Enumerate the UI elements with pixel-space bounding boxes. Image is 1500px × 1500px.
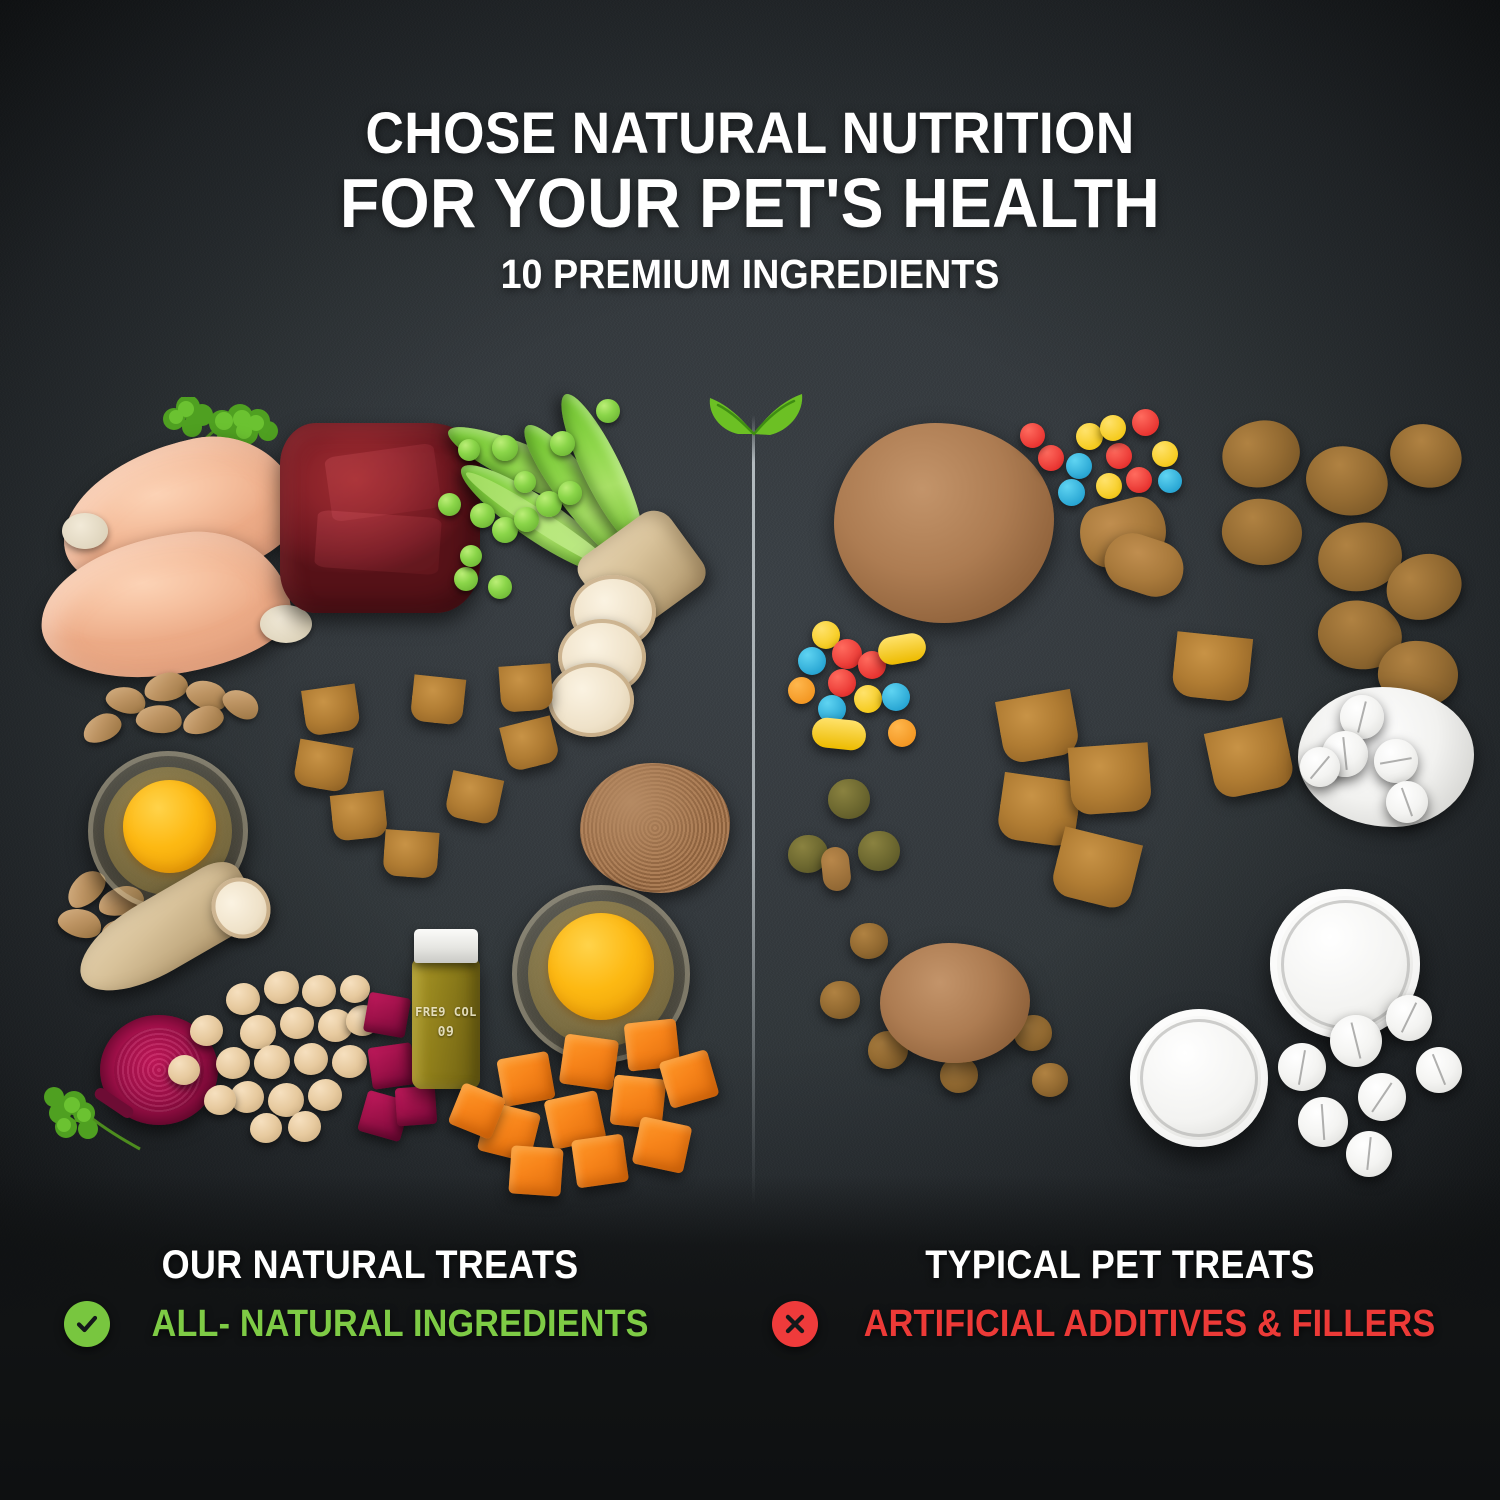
pecan-7 [218,683,264,726]
chickpea-5 [280,1007,314,1039]
candy-yellow-1 [1076,423,1103,450]
kibble-heart-5 [499,715,561,772]
beef-liver [280,423,480,613]
kibble-chunk-5 [1381,414,1471,498]
candy-yellow-4 [1152,441,1178,467]
flaxseed-pile [580,763,730,893]
kibble-heart-7 [444,770,504,826]
pea-13 [460,545,482,567]
candy-red-4 [1126,467,1152,493]
kibble-heart-2 [410,674,467,725]
center-divider-line [752,415,755,1205]
kibble-chunk-1 [1216,414,1306,495]
artificial-ingredients-group [770,395,1470,1185]
candy-red-3 [1132,409,1159,436]
parsley-sprig-bottom [40,1067,170,1157]
left-panel-subtitle: ALL- NATURAL INGREDIENTS [151,1303,648,1346]
small-kibble-6 [1032,1063,1068,1097]
white-tablet-p5 [1300,747,1340,787]
candy-red-5 [1020,423,1045,448]
infographic-canvas: FRE9 COL 09 [0,0,1500,1500]
right-panel-caption: TYPICAL PET TREATS ARTIFICIAL ADDITIVES … [770,1243,1470,1347]
headline-line-3: 10 PREMIUM INGREDIENTS [60,251,1440,298]
candy-red-1 [1038,445,1064,471]
pea-11 [454,567,478,591]
pea-8 [596,399,620,423]
candy-yellow-3 [1096,473,1122,499]
x-icon [772,1301,818,1347]
chickpea-2 [264,971,299,1004]
capsule-yellow-1 [876,631,928,667]
chickpea-14 [190,1015,223,1046]
processed-kibble-4 [1049,826,1143,911]
headline-line-1: CHOSE NATURAL NUTRITION [60,106,1440,162]
pumpkin-cube-9 [571,1134,629,1189]
pea-9 [458,439,480,461]
kibble-chunk-3 [1218,494,1306,570]
left-panel-claim-row: ALL- NATURAL INGREDIENTS [20,1301,720,1347]
beet-cube-1 [363,992,411,1039]
kibble-heart-3 [498,663,553,713]
left-panel-caption: OUR NATURAL TREATS ALL- NATURAL INGREDIE… [20,1243,720,1347]
chickpea-1 [226,983,260,1015]
pumpkin-cube-1 [496,1051,556,1107]
white-tablet-7 [1346,1131,1392,1177]
pill-bottle-small [1130,1009,1268,1147]
chickpea-18 [288,1111,321,1142]
brown-meal-powder-pile [834,423,1054,623]
pea-7 [550,431,575,456]
left-panel-title: OUR NATURAL TREATS [55,1243,685,1288]
pumpkin-cube-10 [632,1116,693,1174]
beet-cube-2 [367,1042,416,1090]
chicken-bone-tip-a [62,513,108,549]
kibble-chunk-2 [1298,437,1396,525]
candy-yellow-2 [1100,415,1126,441]
kibble-heart-6 [330,790,389,841]
oil-bottle-label-line2: 09 [412,1025,480,1040]
processed-kibble-6 [1204,717,1296,800]
lower-meal-powder-pile [880,943,1030,1063]
pea-12 [488,575,512,599]
candy-yellow-6 [854,685,882,713]
chickpea-10 [332,1045,367,1078]
brown-kibble-capsule [820,846,852,893]
processed-kibble-3 [1068,742,1153,815]
pumpkin-cube-8 [508,1145,563,1197]
parsnip-slice-3 [548,663,634,737]
right-panel-title: TYPICAL PET TREATS [805,1243,1435,1288]
candy-blue-3 [1158,469,1182,493]
pea-3 [514,507,539,532]
candy-blue-1 [1066,453,1092,479]
small-kibble-1 [850,923,888,959]
chickpea-13 [308,1079,342,1111]
fish-oil-bottle-cap [414,929,478,963]
chickpea-4 [240,1015,276,1049]
chickpea-8 [254,1045,290,1079]
pea-1 [470,503,495,528]
chickpea-9 [294,1043,328,1075]
candy-red-2 [1106,443,1132,469]
white-tablet-5 [1358,1073,1406,1121]
candy-blue-6 [882,683,910,711]
white-tablet-p4 [1386,781,1428,823]
chickpea-19 [250,1113,282,1143]
check-icon [64,1301,110,1347]
white-tablet-p3 [1374,739,1418,783]
kibble-heart-1 [301,683,361,736]
pecan-6 [79,708,126,747]
green-kibble-3 [858,831,900,871]
small-kibble-2 [820,981,860,1019]
chickpea-3 [302,975,336,1007]
pea-14 [514,471,536,493]
pea-5 [558,481,582,505]
green-kibble-1 [828,779,870,819]
candy-orange-2 [888,719,916,747]
kibble-heart-8 [382,829,439,879]
capsule-yellow-2 [811,716,868,751]
white-tablet-1 [1278,1043,1326,1091]
pumpkin-cube-2 [559,1033,619,1090]
headline-line-2: FOR YOUR PET'S HEALTH [60,170,1440,237]
right-panel-claim-row: ARTIFICIAL ADDITIVES & FILLERS [770,1301,1470,1347]
white-tablet-4 [1298,1097,1348,1147]
sprout-leaf-icon [700,378,808,436]
candy-blue-4 [798,647,826,675]
right-panel-subtitle: ARTIFICIAL ADDITIVES & FILLERS [864,1303,1436,1346]
beet-cube-4 [395,1086,438,1127]
candy-red-7 [828,669,856,697]
natural-ingredients-group: FRE9 COL 09 [40,395,740,1185]
chickpea-7 [216,1047,250,1079]
fish-oil-bottle: FRE9 COL 09 [412,959,480,1089]
processed-kibble-5 [1171,631,1253,703]
white-tablet-3 [1386,995,1432,1041]
headline-block: CHOSE NATURAL NUTRITION FOR YOUR PET'S H… [0,106,1500,298]
white-tablet-2 [1330,1015,1382,1067]
white-tablet-6 [1416,1047,1462,1093]
pea-6 [492,435,518,461]
chickpea-16 [204,1085,236,1115]
pea-10 [438,493,461,516]
oil-bottle-label-line1: FRE9 COL [412,1005,480,1019]
kibble-heart-4 [292,739,353,794]
chickpea-20 [340,975,370,1003]
candy-blue-2 [1058,479,1085,506]
chickpea-17 [168,1055,200,1085]
candy-orange-1 [788,677,815,704]
